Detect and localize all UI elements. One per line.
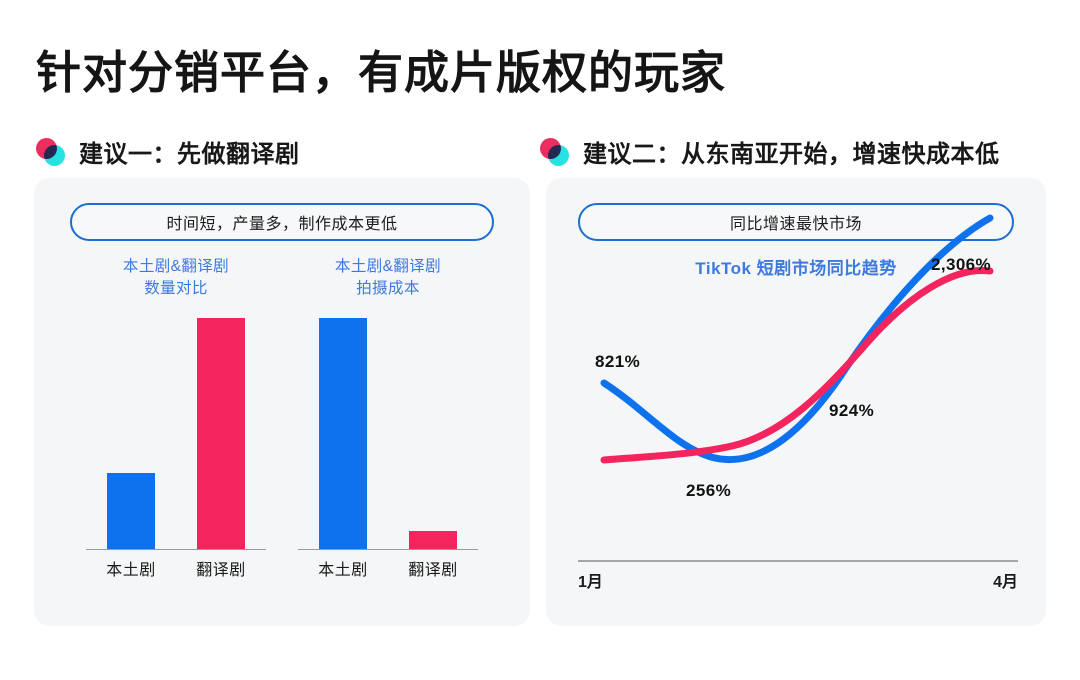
caption-line-1: 本土剧&翻译剧 (284, 256, 492, 278)
section-title-one: 建议一：先做翻译剧 (79, 134, 300, 169)
section-header-two: 建议二：从东南亚开始，增速快成本低 (540, 134, 1000, 169)
bar-chart-cost-axis (298, 549, 478, 551)
line-chart-plot (546, 178, 1046, 626)
tiktok-logo-cyan-circle (548, 145, 569, 166)
caption-line-2: 拍摄成本 (284, 278, 492, 300)
page-title: 针对分销平台，有成片版权的玩家 (36, 36, 726, 101)
axis-label-translated: 翻译剧 (181, 556, 261, 580)
line-chart-x-labels: 1月 4月 (578, 568, 1018, 592)
axis-label-local: 本土剧 (91, 556, 171, 580)
pill-label-one: 时间短，产量多，制作成本更低 (70, 203, 494, 241)
bar-series-quantity (86, 318, 266, 550)
tiktok-logo-cyan-circle (44, 145, 65, 166)
x-label-start: 1月 (578, 568, 603, 592)
axis-label-local: 本土剧 (303, 556, 383, 580)
line-chart-x-axis (578, 560, 1018, 562)
bar-cost-translated (409, 531, 457, 550)
bar-quantity-local (107, 473, 155, 550)
bar-series-cost (298, 318, 478, 550)
axis-label-translated: 翻译剧 (393, 556, 473, 580)
bar-chart-quantity-caption: 本土剧&翻译剧 数量对比 (72, 256, 280, 300)
section-header-one: 建议一：先做翻译剧 (36, 134, 300, 169)
x-label-end: 4月 (993, 568, 1018, 592)
caption-line-2: 数量对比 (72, 278, 280, 300)
bar-chart-quantity-axis-labels: 本土剧 翻译剧 (86, 556, 266, 580)
bar-chart-quantity-plot: 本土剧 翻译剧 (86, 318, 266, 550)
caption-line-1: 本土剧&翻译剧 (72, 256, 280, 278)
bar-chart-cost-caption: 本土剧&翻译剧 拍摄成本 (284, 256, 492, 300)
bar-chart-cost-plot: 本土剧 翻译剧 (298, 318, 478, 550)
panel-suggestion-one: 时间短，产量多，制作成本更低 本土剧&翻译剧 数量对比 本土剧 翻译剧 本土剧&… (34, 178, 530, 626)
line-label-924: 924% (829, 401, 874, 421)
bar-chart-cost: 本土剧&翻译剧 拍摄成本 本土剧 翻译剧 (284, 256, 492, 586)
line-label-821: 821% (595, 352, 640, 372)
bar-cost-local (319, 318, 367, 550)
section-title-two: 建议二：从东南亚开始，增速快成本低 (583, 134, 1000, 169)
tiktok-logo-icon (36, 138, 66, 166)
bar-quantity-translated (197, 318, 245, 550)
bar-chart-quantity: 本土剧&翻译剧 数量对比 本土剧 翻译剧 (72, 256, 280, 586)
line-label-2306: 2,306% (931, 255, 991, 275)
panel-suggestion-two: 同比增速最快市场 TikTok 短剧市场同比趋势 821% 256% 924% … (546, 178, 1046, 626)
bar-chart-quantity-axis (86, 549, 266, 551)
line-label-256: 256% (686, 481, 731, 501)
bar-chart-cost-axis-labels: 本土剧 翻译剧 (298, 556, 478, 580)
tiktok-logo-icon (540, 138, 570, 166)
